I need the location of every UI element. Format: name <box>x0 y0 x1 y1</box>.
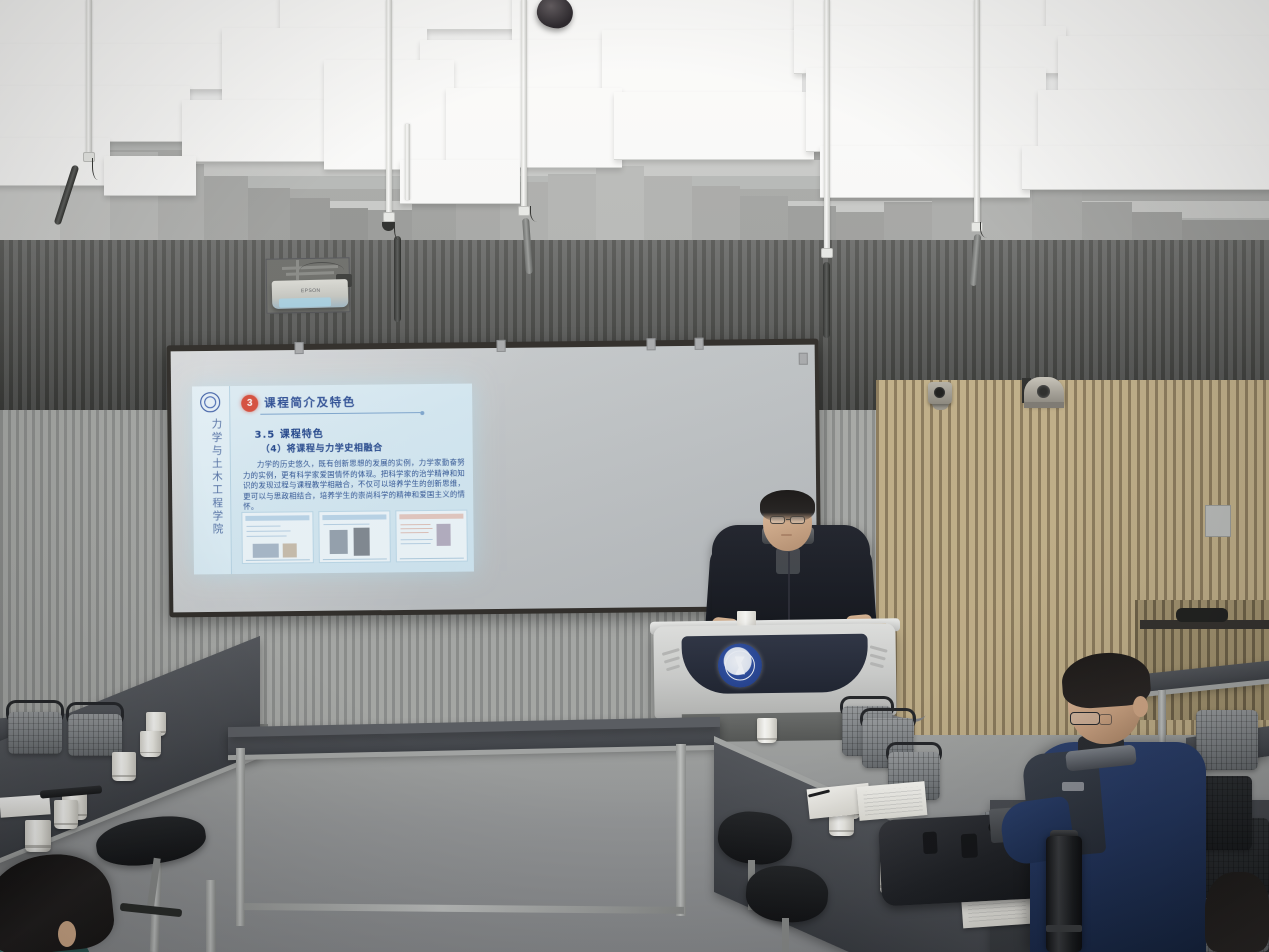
slide-subsection-heading: （4）将课程与力学史相融合 <box>261 440 383 454</box>
presenter-glasses-bridge <box>786 519 791 520</box>
table-center-leg-1 <box>236 748 245 926</box>
board-clip-3 <box>647 338 656 350</box>
presenter-glasses-right <box>790 516 805 524</box>
table-left-leg-2 <box>206 880 216 952</box>
presenter-jacket-zipper <box>788 552 790 626</box>
mic-pole-1 <box>86 0 92 158</box>
cup-7[interactable] <box>757 718 777 743</box>
podium-vent-r1 <box>870 645 888 652</box>
mic-knuckle-3 <box>518 206 530 216</box>
podium-vent-l1 <box>662 648 680 656</box>
wall-camera-ptz-base <box>1024 402 1064 408</box>
cup-6[interactable] <box>25 820 51 852</box>
bottom-right-person-head <box>1205 872 1269 952</box>
mic-knuckle-4 <box>821 248 833 258</box>
board-clip-1 <box>295 342 304 354</box>
podium-vent-r2 <box>870 654 886 661</box>
seated-man-vest-strap <box>1062 782 1084 791</box>
boom-microphone-4 <box>823 262 830 338</box>
podium-vent-l3 <box>666 664 680 670</box>
podium-front-panel <box>682 634 869 695</box>
mic-wire-5 <box>980 222 992 238</box>
cup-3[interactable] <box>112 752 136 781</box>
slide-body-text: 力学的历史悠久，既有创新思想的发展的实例，力学家勤奋努力的实例，更有科学家爱国情… <box>243 458 466 513</box>
seminar-room-photo: EPSON 力学与土木工程学院 3 课程简介及特色 <box>0 0 1269 952</box>
cup-5[interactable] <box>54 800 78 829</box>
open-notebook-lines <box>863 787 923 816</box>
backpack-pocket-1 <box>923 832 938 855</box>
slide-thumbnail-row <box>241 510 468 564</box>
university-emblem <box>718 643 763 688</box>
presenter-mouth <box>781 534 792 536</box>
thermos-ring <box>1046 925 1082 932</box>
black-thermos[interactable] <box>1046 836 1082 952</box>
podium-vent-l2 <box>664 656 680 663</box>
mic-wire-3 <box>530 206 542 222</box>
backpack-pocket-2 <box>961 833 978 858</box>
wall-dark-object <box>1176 608 1228 622</box>
mic-pole-5 <box>974 0 980 228</box>
foreground-person-ear <box>58 921 76 947</box>
chair-left-1-back[interactable] <box>8 712 62 754</box>
stepped-white-acoustic-panels <box>0 0 1269 252</box>
seated-man-glasses-left <box>1070 712 1100 725</box>
slide-title-rule <box>260 412 420 415</box>
slide-thumbnail-3 <box>395 510 468 563</box>
seated-man-ear <box>1133 696 1148 717</box>
seated-man-glasses-right <box>1099 714 1112 725</box>
wall-panel-box <box>1205 505 1231 537</box>
chair-left-2-back[interactable] <box>68 714 122 756</box>
board-clip-5 <box>799 353 808 365</box>
mic-wire-2 <box>394 222 402 240</box>
mic-knuckle-2 <box>383 212 395 222</box>
slide-section-heading: 3.5 课程特色 <box>254 425 323 441</box>
slide-title: 课程简介及特色 <box>264 394 356 411</box>
mic-pole-4 <box>824 0 830 252</box>
mic-pole-2 <box>386 0 392 218</box>
projector-arm-3 <box>296 260 299 280</box>
university-seal-logo <box>200 392 220 412</box>
slide-thumbnail-2 <box>318 510 391 563</box>
chair-left-1-mesh <box>8 712 62 754</box>
mic-pole-3 <box>521 0 527 214</box>
chair-left-2-mesh <box>68 714 122 756</box>
slide-vertical-sidebar-text: 力学与土木工程学院 <box>201 418 222 536</box>
chair-far-right-1-mesh <box>1196 710 1258 770</box>
cup-2[interactable] <box>140 731 161 757</box>
wall-camera-ptz <box>1024 377 1064 405</box>
podium-vent-r3 <box>870 662 884 668</box>
wall-camera-small <box>928 382 952 404</box>
slide-badge-number: 3 <box>241 395 258 412</box>
projector-lens <box>279 297 331 307</box>
slide-thumbnail-1 <box>241 511 314 564</box>
projector-brand-label: EPSON <box>301 288 321 295</box>
chair-center-2-post <box>782 918 789 952</box>
chair-far-right-1-back[interactable] <box>1196 710 1258 770</box>
presenter-glasses-left <box>770 516 785 524</box>
mic-pole-6 <box>405 124 410 200</box>
table-center-leg-2 <box>676 744 686 916</box>
projected-slide: 力学与土木工程学院 3 课程简介及特色 3.5 课程特色 （4）将课程与力学史相… <box>192 384 474 575</box>
board-clip-2 <box>497 340 506 352</box>
presenter-hair <box>760 490 815 522</box>
boom-microphone-2 <box>394 236 401 322</box>
mic-wire-1 <box>92 158 102 180</box>
board-clip-4 <box>695 338 704 350</box>
projector-wire <box>300 262 344 278</box>
